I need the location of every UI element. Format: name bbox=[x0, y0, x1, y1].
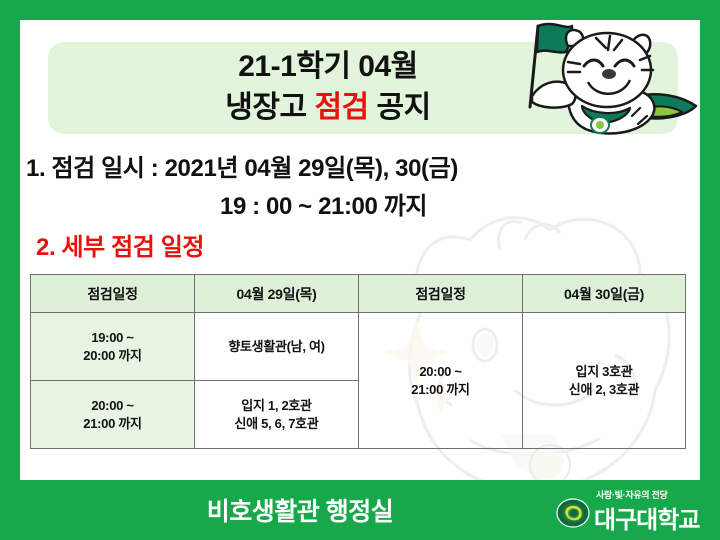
column-header-schedule-1: 점검일정 bbox=[31, 275, 195, 313]
column-header-schedule-2: 점검일정 bbox=[359, 275, 523, 313]
notice-item-1: 1. 점검 일시 : 2021년 04월 29일(목), 30(금) bbox=[20, 148, 700, 183]
university-logo: 사랑·빛·자유의 전당 대구대학교 bbox=[552, 488, 712, 534]
cell-place-r2: 입지 1, 2호관 신애 5, 6, 7호관 bbox=[195, 381, 359, 449]
cell-time-r2: 20:00 ~ 21:00 까지 bbox=[31, 381, 195, 449]
schedule-table: 점검일정 04월 29일(목) 점검일정 04월 30일(금) 19:00 ~ … bbox=[30, 274, 686, 449]
title-line-2-highlight: 점검 bbox=[314, 91, 368, 124]
white-panel: 21-1학기 04월 냉장고 점검 공지 bbox=[20, 20, 700, 480]
notice-slide: 21-1학기 04월 냉장고 점검 공지 bbox=[0, 0, 720, 540]
footer-bar: 비호생활관 행정실 사랑·빛·자유의 전당 대구대학교 bbox=[0, 480, 720, 540]
cell-time-r1: 19:00 ~ 20:00 까지 bbox=[31, 313, 195, 381]
cell-time-r2-line1: 20:00 ~ bbox=[31, 397, 194, 415]
cell-time-merged-line1: 20:00 ~ bbox=[359, 363, 522, 381]
title-line-2-suffix: 공지 bbox=[369, 91, 431, 124]
cell-place-r1: 향토생활관(남, 여) bbox=[195, 313, 359, 381]
cell-place-r2-line1: 입지 1, 2호관 bbox=[195, 397, 358, 415]
cell-place-merged-line2: 신애 2, 3호관 bbox=[523, 381, 685, 399]
cell-time-merged: 20:00 ~ 21:00 까지 bbox=[359, 313, 523, 449]
cell-place-r2-line2: 신애 5, 6, 7호관 bbox=[195, 415, 358, 433]
cell-time-r2-line2: 21:00 까지 bbox=[31, 415, 194, 433]
notice-item-2: 2. 세부 점검 일정 bbox=[20, 227, 700, 262]
cell-time-merged-line2: 21:00 까지 bbox=[359, 381, 522, 399]
schedule-table-wrapper: 점검일정 04월 29일(목) 점검일정 04월 30일(금) 19:00 ~ … bbox=[30, 274, 685, 449]
cell-place-merged-line1: 입지 3호관 bbox=[523, 363, 685, 381]
table-row: 19:00 ~ 20:00 까지 향토생활관(남, 여) 20:00 ~ 21:… bbox=[31, 313, 686, 381]
title-line-2-prefix: 냉장고 bbox=[225, 91, 314, 124]
table-header-row: 점검일정 04월 29일(목) 점검일정 04월 30일(금) bbox=[31, 275, 686, 313]
notice-item-1-time: 19 : 00 ~ 21:00 까지 bbox=[20, 186, 700, 221]
tiger-mascot-icon bbox=[510, 20, 700, 142]
cell-time-r1-line2: 20:00 까지 bbox=[31, 347, 194, 365]
university-crest-icon bbox=[556, 498, 590, 528]
notice-body: 1. 점검 일시 : 2021년 04월 29일(목), 30(금) 19 : … bbox=[20, 148, 700, 262]
column-header-date-30: 04월 30일(금) bbox=[523, 275, 686, 313]
column-header-date-29: 04월 29일(목) bbox=[195, 275, 359, 313]
cell-time-r1-line1: 19:00 ~ bbox=[31, 329, 194, 347]
university-name: 대구대학교 bbox=[594, 500, 699, 535]
cell-place-merged: 입지 3호관 신애 2, 3호관 bbox=[523, 313, 686, 449]
